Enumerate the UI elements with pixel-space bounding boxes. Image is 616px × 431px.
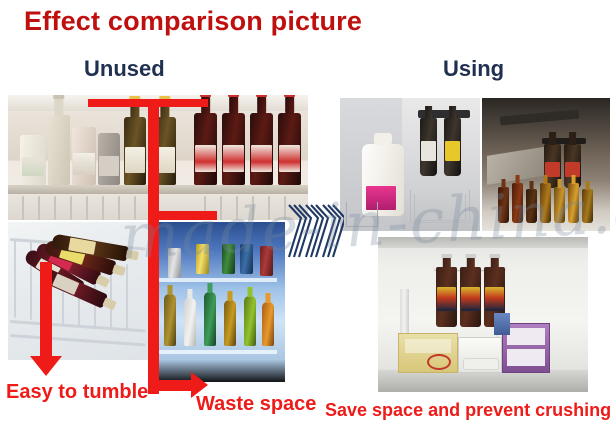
annotation-red-arrow-right	[148, 380, 192, 391]
annotation-red-mid-bar	[148, 211, 217, 220]
photo-wine-bottles-tumbled	[8, 222, 148, 360]
photo-fridge-milk-and-hanging-holder	[340, 98, 480, 231]
annotation-red-arrow-down	[40, 262, 52, 357]
photo-white-fridge-organized	[378, 237, 588, 392]
photo-blue-fridge-packed	[150, 222, 285, 382]
caption-save-space: Save space and prevent crushing	[325, 400, 611, 421]
annotation-red-vertical-bar	[148, 99, 159, 394]
caption-waste-space: Waste space	[196, 393, 316, 416]
photo-dark-fridge-hanging-rack	[482, 98, 610, 231]
slide-canvas: Effect comparison picture Unused Using	[0, 0, 616, 431]
column-heading-unused: Unused	[84, 56, 165, 82]
page-title: Effect comparison picture	[24, 6, 362, 37]
chevron-right-icon	[286, 203, 344, 259]
caption-easy-to-tumble: Easy to tumble	[6, 381, 148, 404]
column-heading-using: Using	[443, 56, 504, 82]
